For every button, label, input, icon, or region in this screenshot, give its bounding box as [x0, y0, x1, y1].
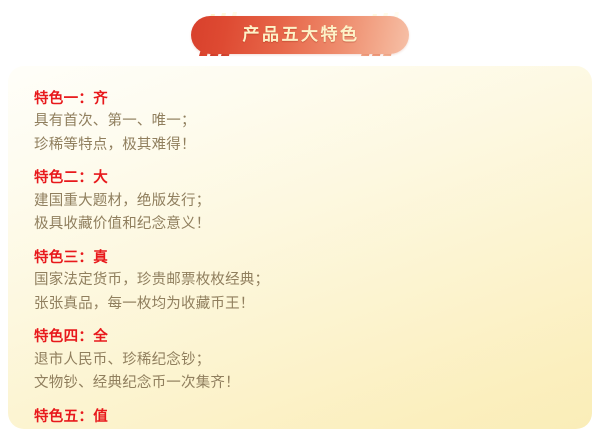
- banner-header: 产品五大特色: [0, 10, 600, 62]
- feature-line: 文物钞、经典纪念币一次集齐！: [34, 372, 592, 395]
- feature-heading: 特色一：齐: [34, 88, 592, 110]
- features-panel: 特色一：齐 具有首次、第一、唯一； 珍稀等特点，极其难得！ 特色二：大 建国重大…: [8, 66, 592, 429]
- banner-title: 产品五大特色: [241, 27, 360, 44]
- feature-item: 特色一：齐 具有首次、第一、唯一； 珍稀等特点，极其难得！: [34, 88, 592, 157]
- feature-item: 特色四：全 退市人民币、珍稀纪念钞； 文物钞、经典纪念币一次集齐！: [34, 326, 592, 395]
- feature-line: 建国重大题材，绝版发行；: [34, 190, 592, 213]
- feature-item: 特色二：大 建国重大题材，绝版发行； 极具收藏价值和纪念意义！: [34, 167, 592, 236]
- feature-line: 极具收藏价值和纪念意义！: [34, 213, 592, 236]
- features-list: 特色一：齐 具有首次、第一、唯一； 珍稀等特点，极其难得！ 特色二：大 建国重大…: [8, 88, 592, 429]
- feature-line: 建国70周年纪念钞，珍贵邮票，绝版珍藏；: [34, 428, 592, 429]
- feature-item: 特色五：值 建国70周年纪念钞，珍贵邮票，绝版珍藏； 限量发行，一旦错过就再也没…: [34, 406, 592, 429]
- page-root: 产品五大特色 特色一：齐 具有首次、第一、唯一； 珍稀等特点，极其难得！ 特色二…: [0, 0, 600, 437]
- feature-heading: 特色三：真: [34, 247, 592, 269]
- feature-line: 具有首次、第一、唯一；: [34, 110, 592, 133]
- feature-heading: 特色五：值: [34, 406, 592, 428]
- feature-heading: 特色二：大: [34, 167, 592, 189]
- feature-line: 珍稀等特点，极其难得！: [34, 134, 592, 157]
- feature-line: 退市人民币、珍稀纪念钞；: [34, 349, 592, 372]
- feature-line: 张张真品，每一枚均为收藏币王！: [34, 293, 592, 316]
- banner-pill: 产品五大特色: [191, 16, 409, 54]
- feature-line: 国家法定货币，珍贵邮票枚枚经典；: [34, 269, 592, 292]
- feature-heading: 特色四：全: [34, 326, 592, 348]
- feature-item: 特色三：真 国家法定货币，珍贵邮票枚枚经典； 张张真品，每一枚均为收藏币王！: [34, 247, 592, 316]
